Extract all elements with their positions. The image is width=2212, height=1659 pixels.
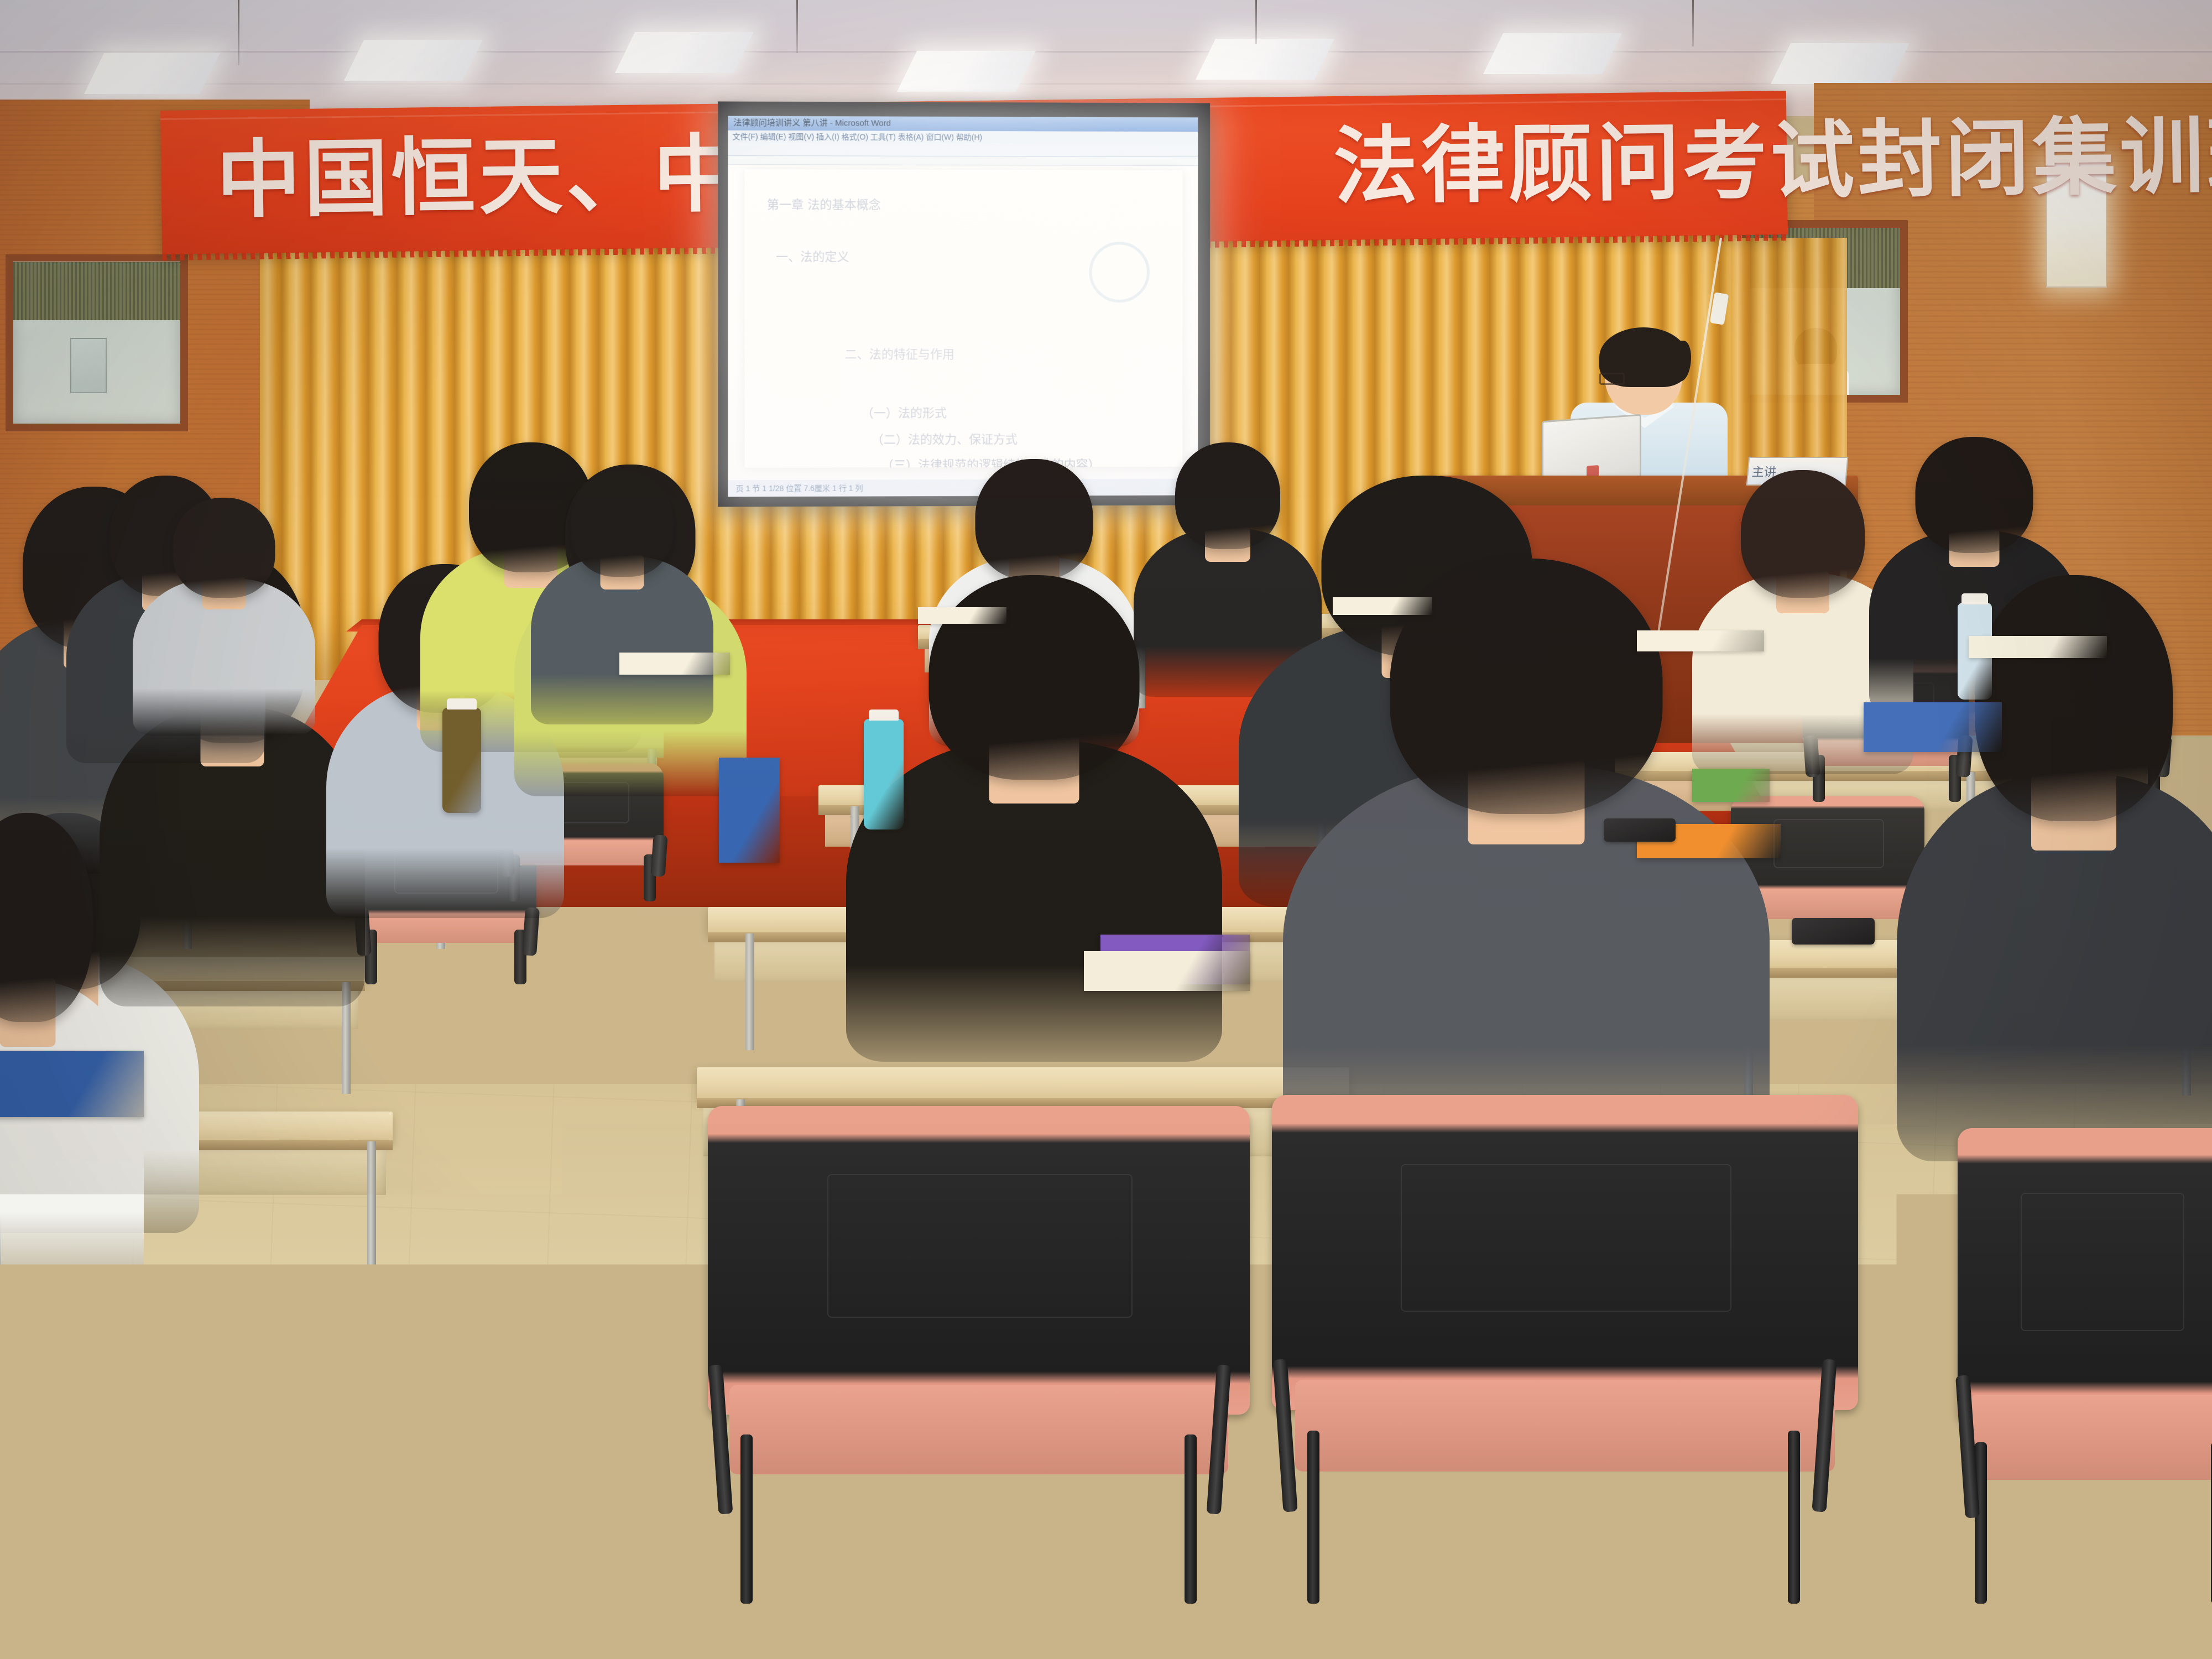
word-ruler xyxy=(728,156,1198,166)
folder-blue-foreground[interactable] xyxy=(0,1051,144,1117)
chair-foreground-far-right[interactable] xyxy=(1958,1128,2212,1604)
chair-leg xyxy=(1975,1442,1987,1604)
desk-leg xyxy=(367,1141,376,1273)
left-wall-window xyxy=(6,254,188,431)
bottle-cap xyxy=(1961,593,1987,604)
document-line: 一、法的定义 xyxy=(776,247,849,265)
word-menu-bar: 文件(F) 编辑(E) 视图(V) 插入(I) 格式(O) 工具(T) 表格(A… xyxy=(728,131,1198,144)
attendee-head xyxy=(571,470,674,577)
ceiling-hanging-wire xyxy=(238,0,239,65)
desk-leg xyxy=(745,933,754,1050)
ceiling-hanging-wire xyxy=(1692,0,1694,46)
notebook-green[interactable] xyxy=(1692,769,1770,802)
floor-light-spot xyxy=(288,1322,332,1353)
window-pane-object xyxy=(70,338,107,393)
document-line: （一）法的形式 xyxy=(862,403,947,421)
paper-stack-left[interactable] xyxy=(619,653,730,675)
phone-black-center[interactable] xyxy=(1792,918,1875,945)
chair-leg xyxy=(1185,1434,1197,1604)
document-line: 二、法的特征与作用 xyxy=(845,345,954,362)
document-line: 第一章 法的基本概念 xyxy=(767,195,881,212)
speaker-glasses xyxy=(1599,373,1625,385)
window-blind xyxy=(13,262,180,320)
ceiling-light-fixture xyxy=(344,40,483,81)
chair-seat xyxy=(729,1385,1228,1474)
document-watermark xyxy=(1089,242,1149,302)
attendee-left-dark-polo xyxy=(531,470,713,724)
ceiling-light-fixture xyxy=(1483,33,1622,74)
folder-blue-left[interactable] xyxy=(719,758,780,863)
chair-foreground-center[interactable] xyxy=(708,1106,1250,1604)
phone-black-right[interactable] xyxy=(1604,818,1676,842)
attendee-head xyxy=(975,459,1093,580)
paper-far-right[interactable] xyxy=(1333,597,1432,615)
document-line: （二）法的效力、保证方式 xyxy=(872,430,1018,448)
classroom-photo: 中国恒天、中国轻工、中 法律顾问考试封闭集训班 法律顾问培训讲义 第八讲 - M… xyxy=(0,0,2212,1659)
folder-blue[interactable] xyxy=(1864,702,2002,752)
chair-leg xyxy=(740,1434,753,1604)
chair-leg xyxy=(1307,1431,1319,1604)
attendee-head xyxy=(173,498,275,598)
banner-text-right: 法律顾问考试封闭集训班 xyxy=(1333,89,2212,233)
attendee-right-striped-foreground xyxy=(1897,575,2212,1161)
word-document-page: 第一章 法的基本概念 一、法的定义 二、法的特征与作用 （一）法的形式 （二）法… xyxy=(745,169,1183,468)
ceiling-light-fixture xyxy=(1196,39,1334,80)
bottle-cap xyxy=(447,698,476,709)
ceiling-light-fixture xyxy=(1771,43,1910,84)
attendee-head xyxy=(1741,470,1865,598)
ceiling-hanging-wire xyxy=(1255,0,1257,44)
water-bottle-green-brown[interactable] xyxy=(442,708,481,813)
ceiling-hanging-wire xyxy=(796,0,798,53)
notepad-cream[interactable] xyxy=(1084,951,1250,991)
ceiling-light-fixture xyxy=(615,32,754,73)
desk-row-center-front xyxy=(697,1067,1349,1099)
word-window-title: 法律顾问培训讲义 第八讲 - Microsoft Word xyxy=(728,116,1198,132)
attendee-head xyxy=(1916,437,2033,553)
ceiling-light-fixture xyxy=(897,51,1036,92)
water-bottle-cyan[interactable] xyxy=(864,719,904,830)
attendee-head xyxy=(929,575,1140,780)
attendee-head xyxy=(1975,575,2173,821)
attendee-head xyxy=(0,813,93,1022)
chair-backrest xyxy=(708,1106,1250,1415)
attendee-left-rear-a xyxy=(133,498,315,735)
chair-seat xyxy=(361,914,529,942)
paper-stack-center[interactable] xyxy=(1637,630,1764,651)
bottle-cap xyxy=(869,709,899,721)
chair-leg xyxy=(1788,1431,1800,1604)
chair-frame-arm xyxy=(650,834,667,877)
paper-stack-right[interactable] xyxy=(1969,636,2107,658)
projection-screen-surface: 法律顾问培训讲义 第八讲 - Microsoft Word 文件(F) 编辑(E… xyxy=(728,116,1198,497)
chair-backrest xyxy=(1272,1095,1858,1410)
chair-foreground-right[interactable] xyxy=(1272,1095,1858,1604)
word-toolbar xyxy=(728,143,1198,157)
ceiling-light-fixture xyxy=(84,53,220,94)
floor-light-spot xyxy=(653,1449,713,1488)
camera-timestamp: 2013/08/18 08:47 xyxy=(1526,1377,2188,1452)
paper-far-left[interactable] xyxy=(918,607,1006,624)
